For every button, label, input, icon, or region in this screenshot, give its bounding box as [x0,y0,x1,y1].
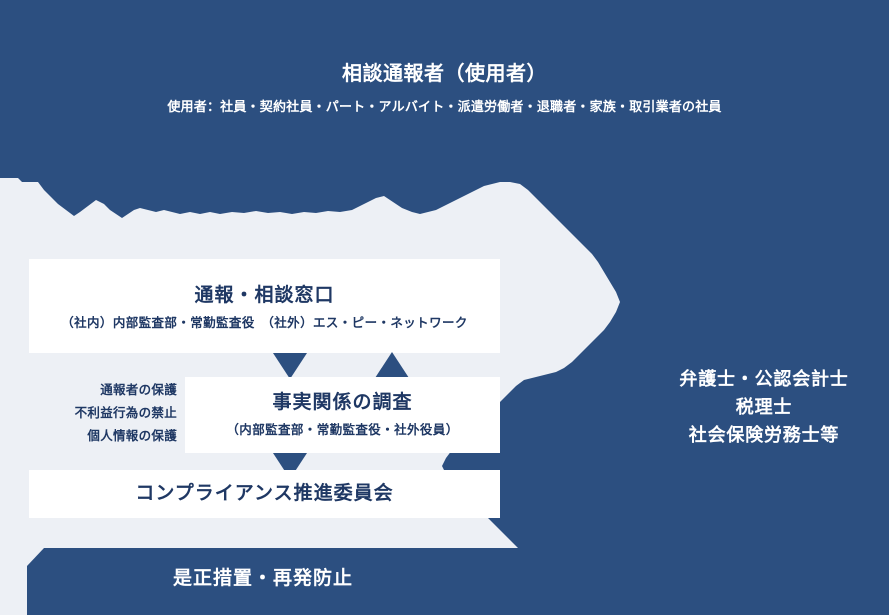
external-advisors-item: 税理士 [639,394,889,422]
protections-item: 個人情報の保護 [29,425,177,448]
flow-box-compliance-committee-title: コンプライアンス推進委員会 [29,482,500,506]
external-advisors-list: 弁護士・公認会計士 税理士 社会保険労務士等 [639,366,889,450]
compliance-flow-diagram: 相談通報者（使用者） 使用者：社員・契約社員・パート・アルバイト・派遣労働者・退… [0,0,889,615]
external-advisors-item: 社会保険労務士等 [639,422,889,450]
arrow-up-icon [375,352,409,378]
header: 相談通報者（使用者） 使用者：社員・契約社員・パート・アルバイト・派遣労働者・退… [0,0,889,116]
external-advisors-item: 弁護士・公認会計士 [639,366,889,394]
page-subtitle: 使用者：社員・契約社員・パート・アルバイト・派遣労働者・退職者・家族・取引業者の… [0,86,889,116]
flow-box-contact-desk: 通報・相談窓口 （社内）内部監査部・常勤監査役 （社外）エス・ピー・ネットワーク [29,259,500,353]
arrow-down-icon [273,353,307,379]
protections-item: 不利益行為の禁止 [29,402,177,425]
flow-box-investigation-subtitle: （内部監査部・常勤監査役・社外役員） [185,415,500,438]
flow-box-compliance-committee: コンプライアンス推進委員会 [29,470,500,518]
protections-item: 通報者の保護 [29,379,177,402]
protections-list: 通報者の保護 不利益行為の禁止 個人情報の保護 [29,379,177,448]
page-title: 相談通報者（使用者） [0,0,889,86]
flow-box-contact-desk-title: 通報・相談窓口 [29,284,500,308]
flow-box-investigation-title: 事実関係の調査 [185,391,500,415]
flow-box-investigation: 事実関係の調査 （内部監査部・常勤監査役・社外役員） [185,377,500,453]
flow-box-contact-desk-subtitle: （社内）内部監査部・常勤監査役 （社外）エス・ピー・ネットワーク [29,308,500,331]
bottom-bar-label: 是正措置・再発防止 [27,568,499,591]
